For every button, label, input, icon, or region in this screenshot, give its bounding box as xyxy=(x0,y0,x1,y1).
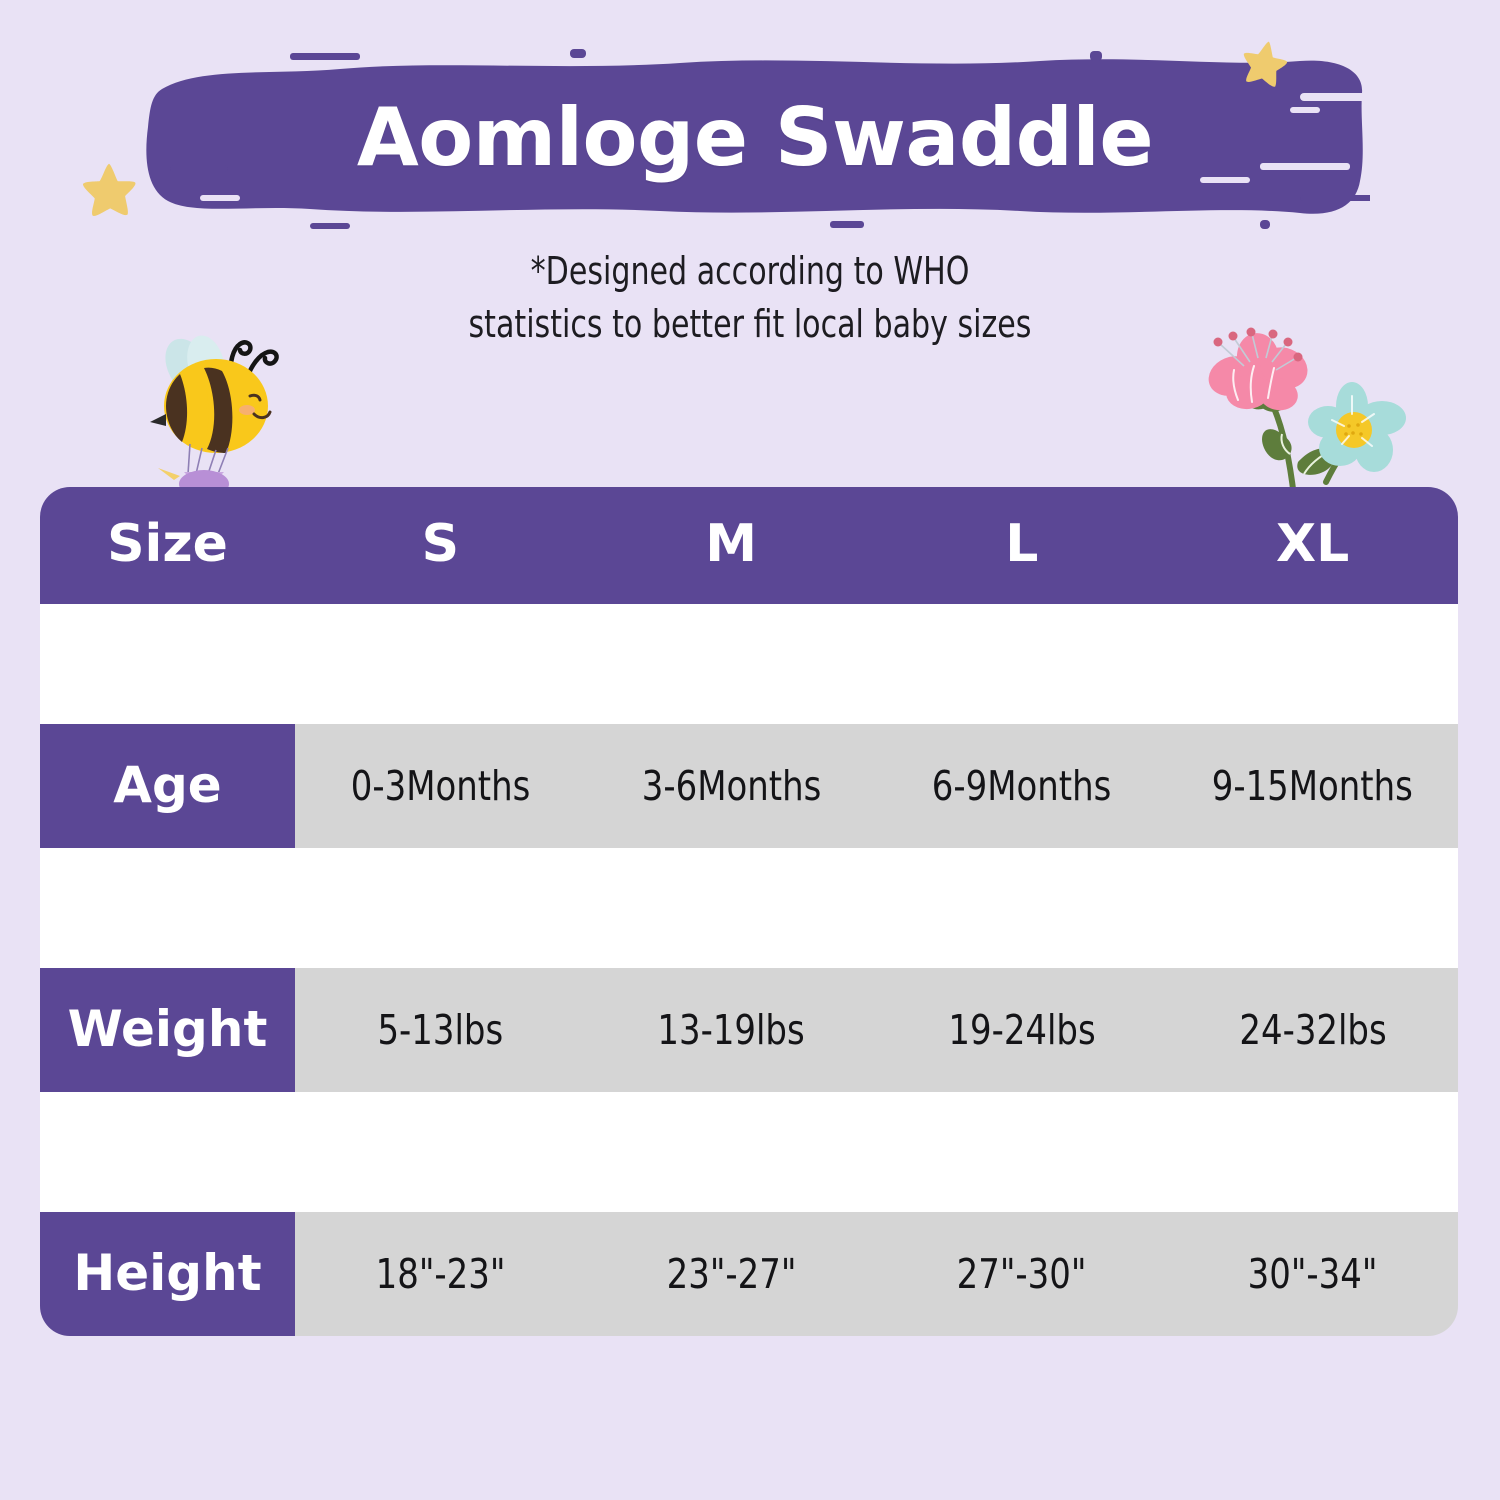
star-icon xyxy=(1233,33,1295,95)
table-spacer-row xyxy=(40,604,1458,724)
table-row: Age 0-3Months 3-6Months 6-9Months 9-15Mo… xyxy=(40,724,1458,848)
table-header-size-xl: XL xyxy=(1167,518,1458,574)
cell-weight-s-text: 5-13lbs xyxy=(378,1010,504,1051)
banner-area: Aomloge Swaddle xyxy=(0,0,1500,240)
subtitle-line-1: *Designed according to WHO xyxy=(90,245,1410,298)
table-header-size-m: M xyxy=(586,518,877,574)
cell-weight-s: 5-13lbs xyxy=(295,1010,586,1051)
cell-weight-xl-text: 24-32lbs xyxy=(1239,1010,1386,1051)
cell-height-m-text: 23"-27" xyxy=(666,1254,796,1295)
cell-age-xl-text: 9-15Months xyxy=(1212,766,1413,807)
cell-age-l: 6-9Months xyxy=(877,766,1168,807)
table-row: Weight 5-13lbs 13-19lbs 19-24lbs 24-32lb… xyxy=(40,968,1458,1092)
row-cells-age: 0-3Months 3-6Months 6-9Months 9-15Months xyxy=(295,724,1458,848)
cell-weight-m-text: 13-19lbs xyxy=(657,1010,804,1051)
cell-weight-l: 19-24lbs xyxy=(877,1010,1168,1051)
cell-age-m-text: 3-6Months xyxy=(641,766,820,807)
row-cells-height: 18"-23" 23"-27" 27"-30" 30"-34" xyxy=(295,1212,1458,1336)
bee-illustration xyxy=(128,322,300,502)
table-header-size-label: Size xyxy=(40,518,295,574)
row-label-age: Age xyxy=(40,724,295,848)
cell-height-xl: 30"-34" xyxy=(1167,1254,1458,1295)
row-label-height: Height xyxy=(40,1212,295,1336)
table-spacer-row xyxy=(40,1092,1458,1212)
cell-weight-m: 13-19lbs xyxy=(586,1010,877,1051)
cell-height-s: 18"-23" xyxy=(295,1254,586,1295)
cell-height-m: 23"-27" xyxy=(586,1254,877,1295)
cell-age-xl: 9-15Months xyxy=(1167,766,1458,807)
table-header-row: Size S M L XL xyxy=(40,487,1458,604)
cell-age-l-text: 6-9Months xyxy=(932,766,1111,807)
cell-height-l-text: 27"-30" xyxy=(957,1254,1087,1295)
row-cells-weight: 5-13lbs 13-19lbs 19-24lbs 24-32lbs xyxy=(295,968,1458,1092)
cell-weight-l-text: 19-24lbs xyxy=(948,1010,1095,1051)
flower-illustration xyxy=(1186,322,1406,497)
table-row: Height 18"-23" 23"-27" 27"-30" 30"-34" xyxy=(40,1212,1458,1336)
cell-height-s-text: 18"-23" xyxy=(375,1254,505,1295)
page-title: Aomloge Swaddle xyxy=(140,45,1370,230)
cell-age-s: 0-3Months xyxy=(295,766,586,807)
cell-weight-xl: 24-32lbs xyxy=(1167,1010,1458,1051)
table-header-size-s: S xyxy=(295,518,586,574)
table-spacer-row xyxy=(40,848,1458,968)
cell-height-l: 27"-30" xyxy=(877,1254,1168,1295)
star-icon xyxy=(78,160,140,222)
cell-age-s-text: 0-3Months xyxy=(351,766,530,807)
cell-age-m: 3-6Months xyxy=(586,766,877,807)
size-chart-table: Size S M L XL Age 0-3Months 3-6Months 6-… xyxy=(40,487,1458,1336)
cell-height-xl-text: 30"-34" xyxy=(1248,1254,1378,1295)
row-label-weight: Weight xyxy=(40,968,295,1092)
table-header-size-l: L xyxy=(877,518,1168,574)
